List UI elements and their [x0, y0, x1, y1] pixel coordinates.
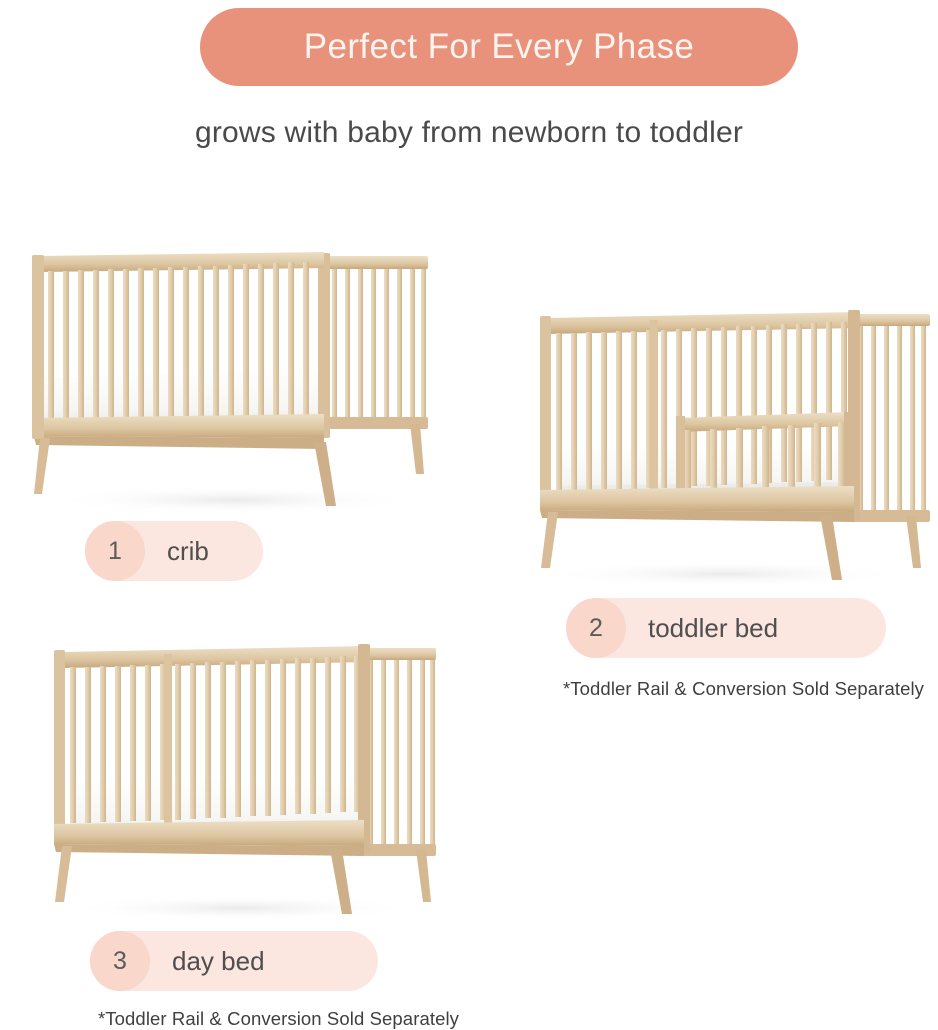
crib-front-panel [34, 252, 324, 449]
day-bed-photo [40, 636, 440, 928]
crib-photo [18, 228, 438, 518]
crib-corner-post-left [32, 255, 44, 439]
day-bed-illustration [40, 636, 440, 928]
daybed-corner-post-left [54, 650, 65, 846]
stage-number-2: 2 [566, 598, 626, 658]
page-subtitle: grows with baby from newborn to toddler [0, 116, 938, 150]
crib-far-end-panel [324, 256, 428, 429]
page-title: Perfect For Every Phase [304, 27, 694, 67]
footnote-day-bed: *Toddler Rail & Conversion Sold Separate… [98, 1008, 459, 1030]
crib-illustration [18, 228, 438, 518]
toddler-corner-post-left [540, 316, 551, 512]
stage-label-crib: crib [145, 536, 235, 567]
toddler-bed-photo [520, 300, 932, 592]
stage-label-day-bed: day bed [150, 946, 291, 977]
stage-label-toddler-bed: toddler bed [626, 613, 804, 644]
daybed-base-apron [54, 820, 364, 856]
toddler-bed-illustration [520, 300, 932, 592]
stage-number-3: 3 [90, 931, 150, 991]
toddler-far-end-panel [850, 314, 930, 522]
stage-badge-day-bed[interactable]: 3 day bed [90, 931, 378, 991]
daybed-far-end-panel [360, 648, 436, 856]
header-title-pill: Perfect For Every Phase [200, 8, 798, 86]
stage-number-1: 1 [85, 521, 145, 581]
stage-badge-toddler-bed[interactable]: 2 toddler bed [566, 598, 886, 658]
stage-badge-crib[interactable]: 1 crib [85, 521, 263, 581]
footnote-toddler-bed: *Toddler Rail & Conversion Sold Separate… [563, 678, 924, 700]
crib-corner-post-right [318, 253, 330, 438]
toddler-base-apron [540, 486, 854, 522]
